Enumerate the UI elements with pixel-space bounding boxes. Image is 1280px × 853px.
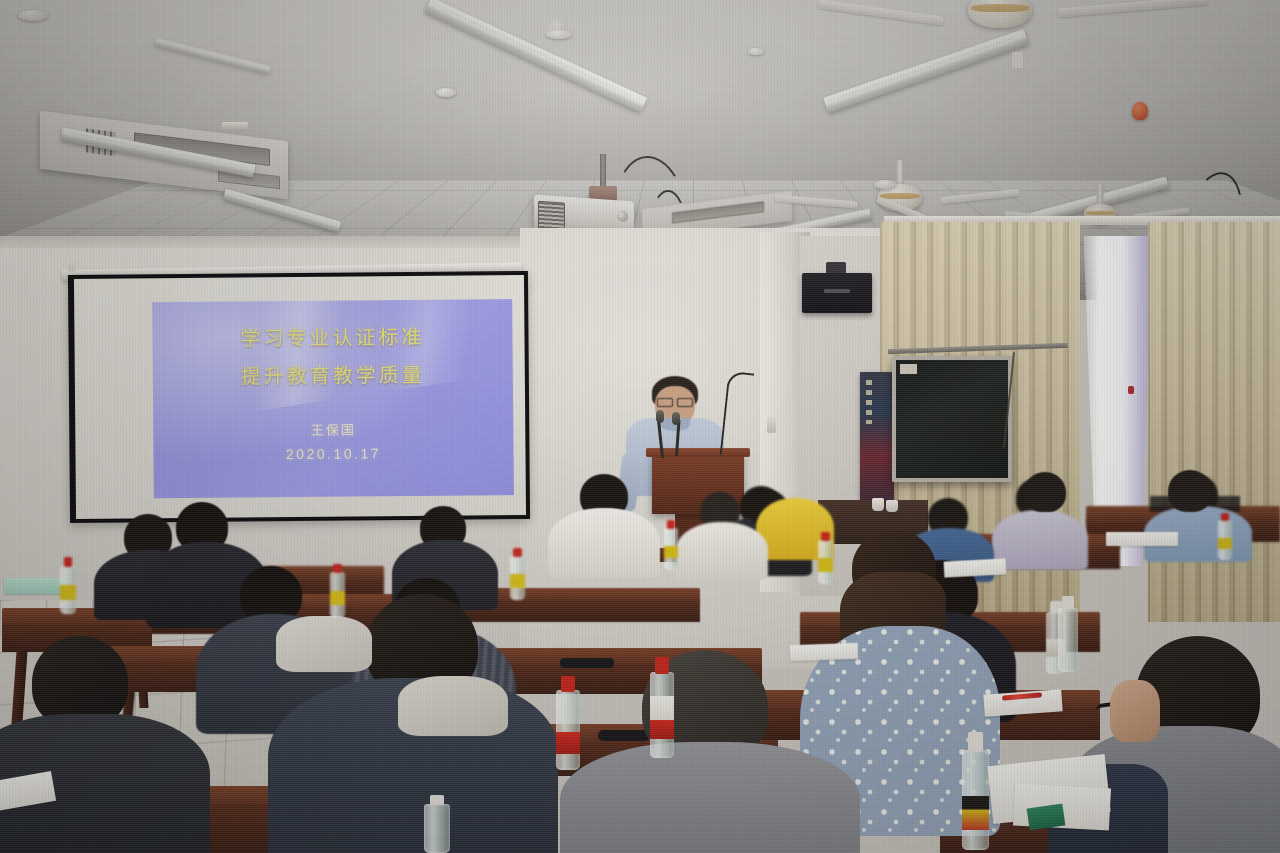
arm: [276, 616, 372, 672]
hand: [1110, 680, 1160, 742]
cup-icon: [872, 498, 884, 511]
list-item: [676, 522, 768, 580]
lecture-hall-photo: 学习专业认证标准 提升教育教学质量 王保国 2020.10.17: [0, 0, 1280, 853]
slide-date: 2020.10.17: [153, 441, 513, 468]
projected-slide: 学习专业认证标准 提升教育教学质量 王保国 2020.10.17: [152, 299, 514, 498]
arm: [398, 676, 508, 736]
document-sheet: [1106, 532, 1178, 546]
cup-icon: [886, 500, 898, 512]
bottle-icon: [556, 690, 580, 770]
microphone-icon: [672, 412, 680, 425]
bottle-icon: [510, 556, 525, 600]
bottle-icon: [60, 566, 76, 614]
bottle-icon: [818, 540, 833, 584]
list-item: [1024, 472, 1066, 512]
decorative-banner: [860, 372, 894, 508]
bottle-icon: [1218, 520, 1232, 560]
screen-surface: 学习专业认证标准 提升教育教学质量 王保国 2020.10.17: [74, 275, 526, 519]
glasses-icon: [657, 398, 693, 405]
folder-icon: [4, 578, 66, 594]
slide-title: 学习专业认证标准 提升教育教学质量: [152, 317, 513, 396]
bottle-icon: [664, 528, 678, 570]
list-item: [548, 508, 660, 578]
blackboard-icon: [892, 356, 1012, 482]
wall-marker: [1128, 386, 1134, 394]
bottle-icon: [962, 750, 989, 850]
projection-screen-icon: 学习专业认证标准 提升教育教学质量 王保国 2020.10.17: [68, 271, 530, 523]
window-handle[interactable]: [222, 122, 248, 131]
board-label: [900, 364, 917, 374]
list-item: [992, 510, 1088, 570]
list-item: [560, 742, 860, 853]
bottle-icon: [1058, 608, 1078, 672]
slide-title-line-2: 提升教育教学质量: [153, 355, 513, 396]
speaker-icon: [802, 273, 872, 313]
bottle-icon: [330, 572, 345, 618]
list-item: [1168, 470, 1212, 512]
bottle-icon: [650, 672, 674, 758]
document-sheet: [790, 643, 859, 661]
microphone-icon: [656, 410, 664, 423]
slide-title-line-1: 学习专业认证标准: [152, 317, 512, 358]
slide-meta: 王保国 2020.10.17: [153, 419, 513, 468]
desk-hole: [598, 730, 650, 741]
desk-hole: [560, 658, 614, 668]
wall-switch[interactable]: [767, 415, 776, 433]
document-sheet: [944, 558, 1007, 577]
bottle-icon: [424, 804, 450, 853]
slide-presenter: 王保国: [153, 419, 513, 444]
